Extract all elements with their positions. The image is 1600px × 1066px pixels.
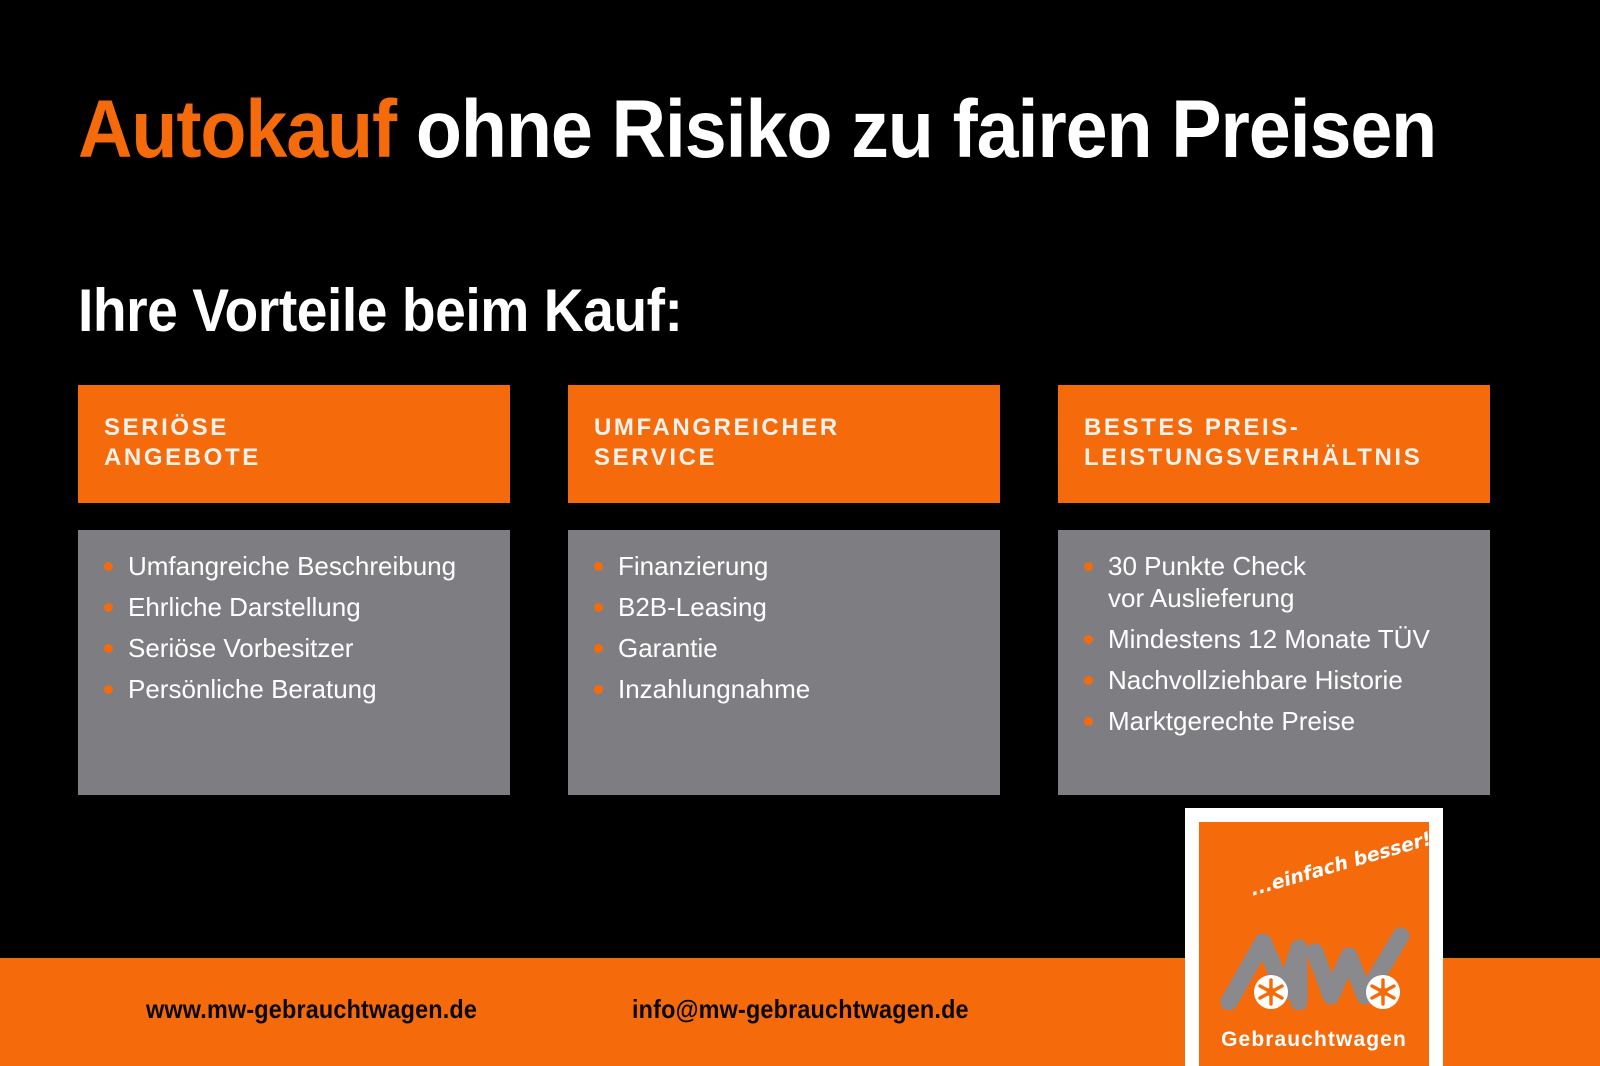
company-logo: ...einfach besser! G [1185, 808, 1443, 1066]
list-item: Umfangreiche Beschreibung [100, 550, 496, 582]
card-header-title: UMFANGREICHER SERVICE [594, 413, 1000, 473]
card-header-title: BESTES PREIS- LEISTUNGSVERHÄLTNIS [1084, 413, 1490, 473]
benefit-card-serioese-angebote: SERIÖSE ANGEBOTE Umfangreiche Beschreibu… [78, 385, 510, 795]
benefit-card-umfangreicher-service: UMFANGREICHER SERVICE Finanzierung B2B-L… [568, 385, 1000, 795]
mw-monogram-icon [1215, 918, 1413, 1010]
card-header-banner: UMFANGREICHER SERVICE [568, 385, 1000, 503]
list-item: Nachvollziehbare Historie [1080, 664, 1476, 696]
logo-company-name: Gebrauchtwagen [1199, 1028, 1429, 1052]
list-item: Ehrliche Darstellung [100, 591, 496, 623]
card-header-title: SERIÖSE ANGEBOTE [104, 413, 510, 473]
card-header-banner: SERIÖSE ANGEBOTE [78, 385, 510, 503]
list-item: Seriöse Vorbesitzer [100, 632, 496, 664]
logo-inner-panel: ...einfach besser! G [1199, 822, 1429, 1066]
list-item: Inzahlungnahme [590, 673, 986, 705]
website-link[interactable]: www.mw-gebrauchtwagen.de [146, 994, 477, 1024]
card-body-panel: Finanzierung B2B-Leasing Garantie Inzahl… [568, 530, 1000, 795]
page-title: Autokauf ohne Risiko zu fairen Preisen [78, 86, 1421, 174]
list-item: B2B-Leasing [590, 591, 986, 623]
list-item: 30 Punkte Check vor Auslieferung [1080, 550, 1476, 614]
section-subtitle: Ihre Vorteile beim Kauf: [78, 278, 682, 344]
benefit-list: 30 Punkte Check vor Auslieferung Mindest… [1080, 550, 1476, 737]
card-body-panel: 30 Punkte Check vor Auslieferung Mindest… [1058, 530, 1490, 795]
list-item: Garantie [590, 632, 986, 664]
card-body-panel: Umfangreiche Beschreibung Ehrliche Darst… [78, 530, 510, 795]
benefit-list: Umfangreiche Beschreibung Ehrliche Darst… [100, 550, 496, 705]
logo-tagline: ...einfach besser! [1248, 829, 1429, 900]
list-item: Marktgerechte Preise [1080, 705, 1476, 737]
list-item: Finanzierung [590, 550, 986, 582]
benefit-cards: SERIÖSE ANGEBOTE Umfangreiche Beschreibu… [78, 385, 1490, 795]
benefit-list: Finanzierung B2B-Leasing Garantie Inzahl… [590, 550, 986, 705]
headline-rest: ohne Risiko zu fairen Preisen [396, 84, 1436, 175]
list-item: Persönliche Beratung [100, 673, 496, 705]
benefit-card-bestes-preis-leistungsverhaeltnis: BESTES PREIS- LEISTUNGSVERHÄLTNIS 30 Pun… [1058, 385, 1490, 795]
poster-canvas: Autokauf ohne Risiko zu fairen Preisen I… [0, 0, 1600, 1066]
card-header-banner: BESTES PREIS- LEISTUNGSVERHÄLTNIS [1058, 385, 1490, 503]
list-item: Mindestens 12 Monate TÜV [1080, 623, 1476, 655]
email-link[interactable]: info@mw-gebrauchtwagen.de [632, 994, 969, 1024]
headline-accent-word: Autokauf [78, 84, 396, 175]
